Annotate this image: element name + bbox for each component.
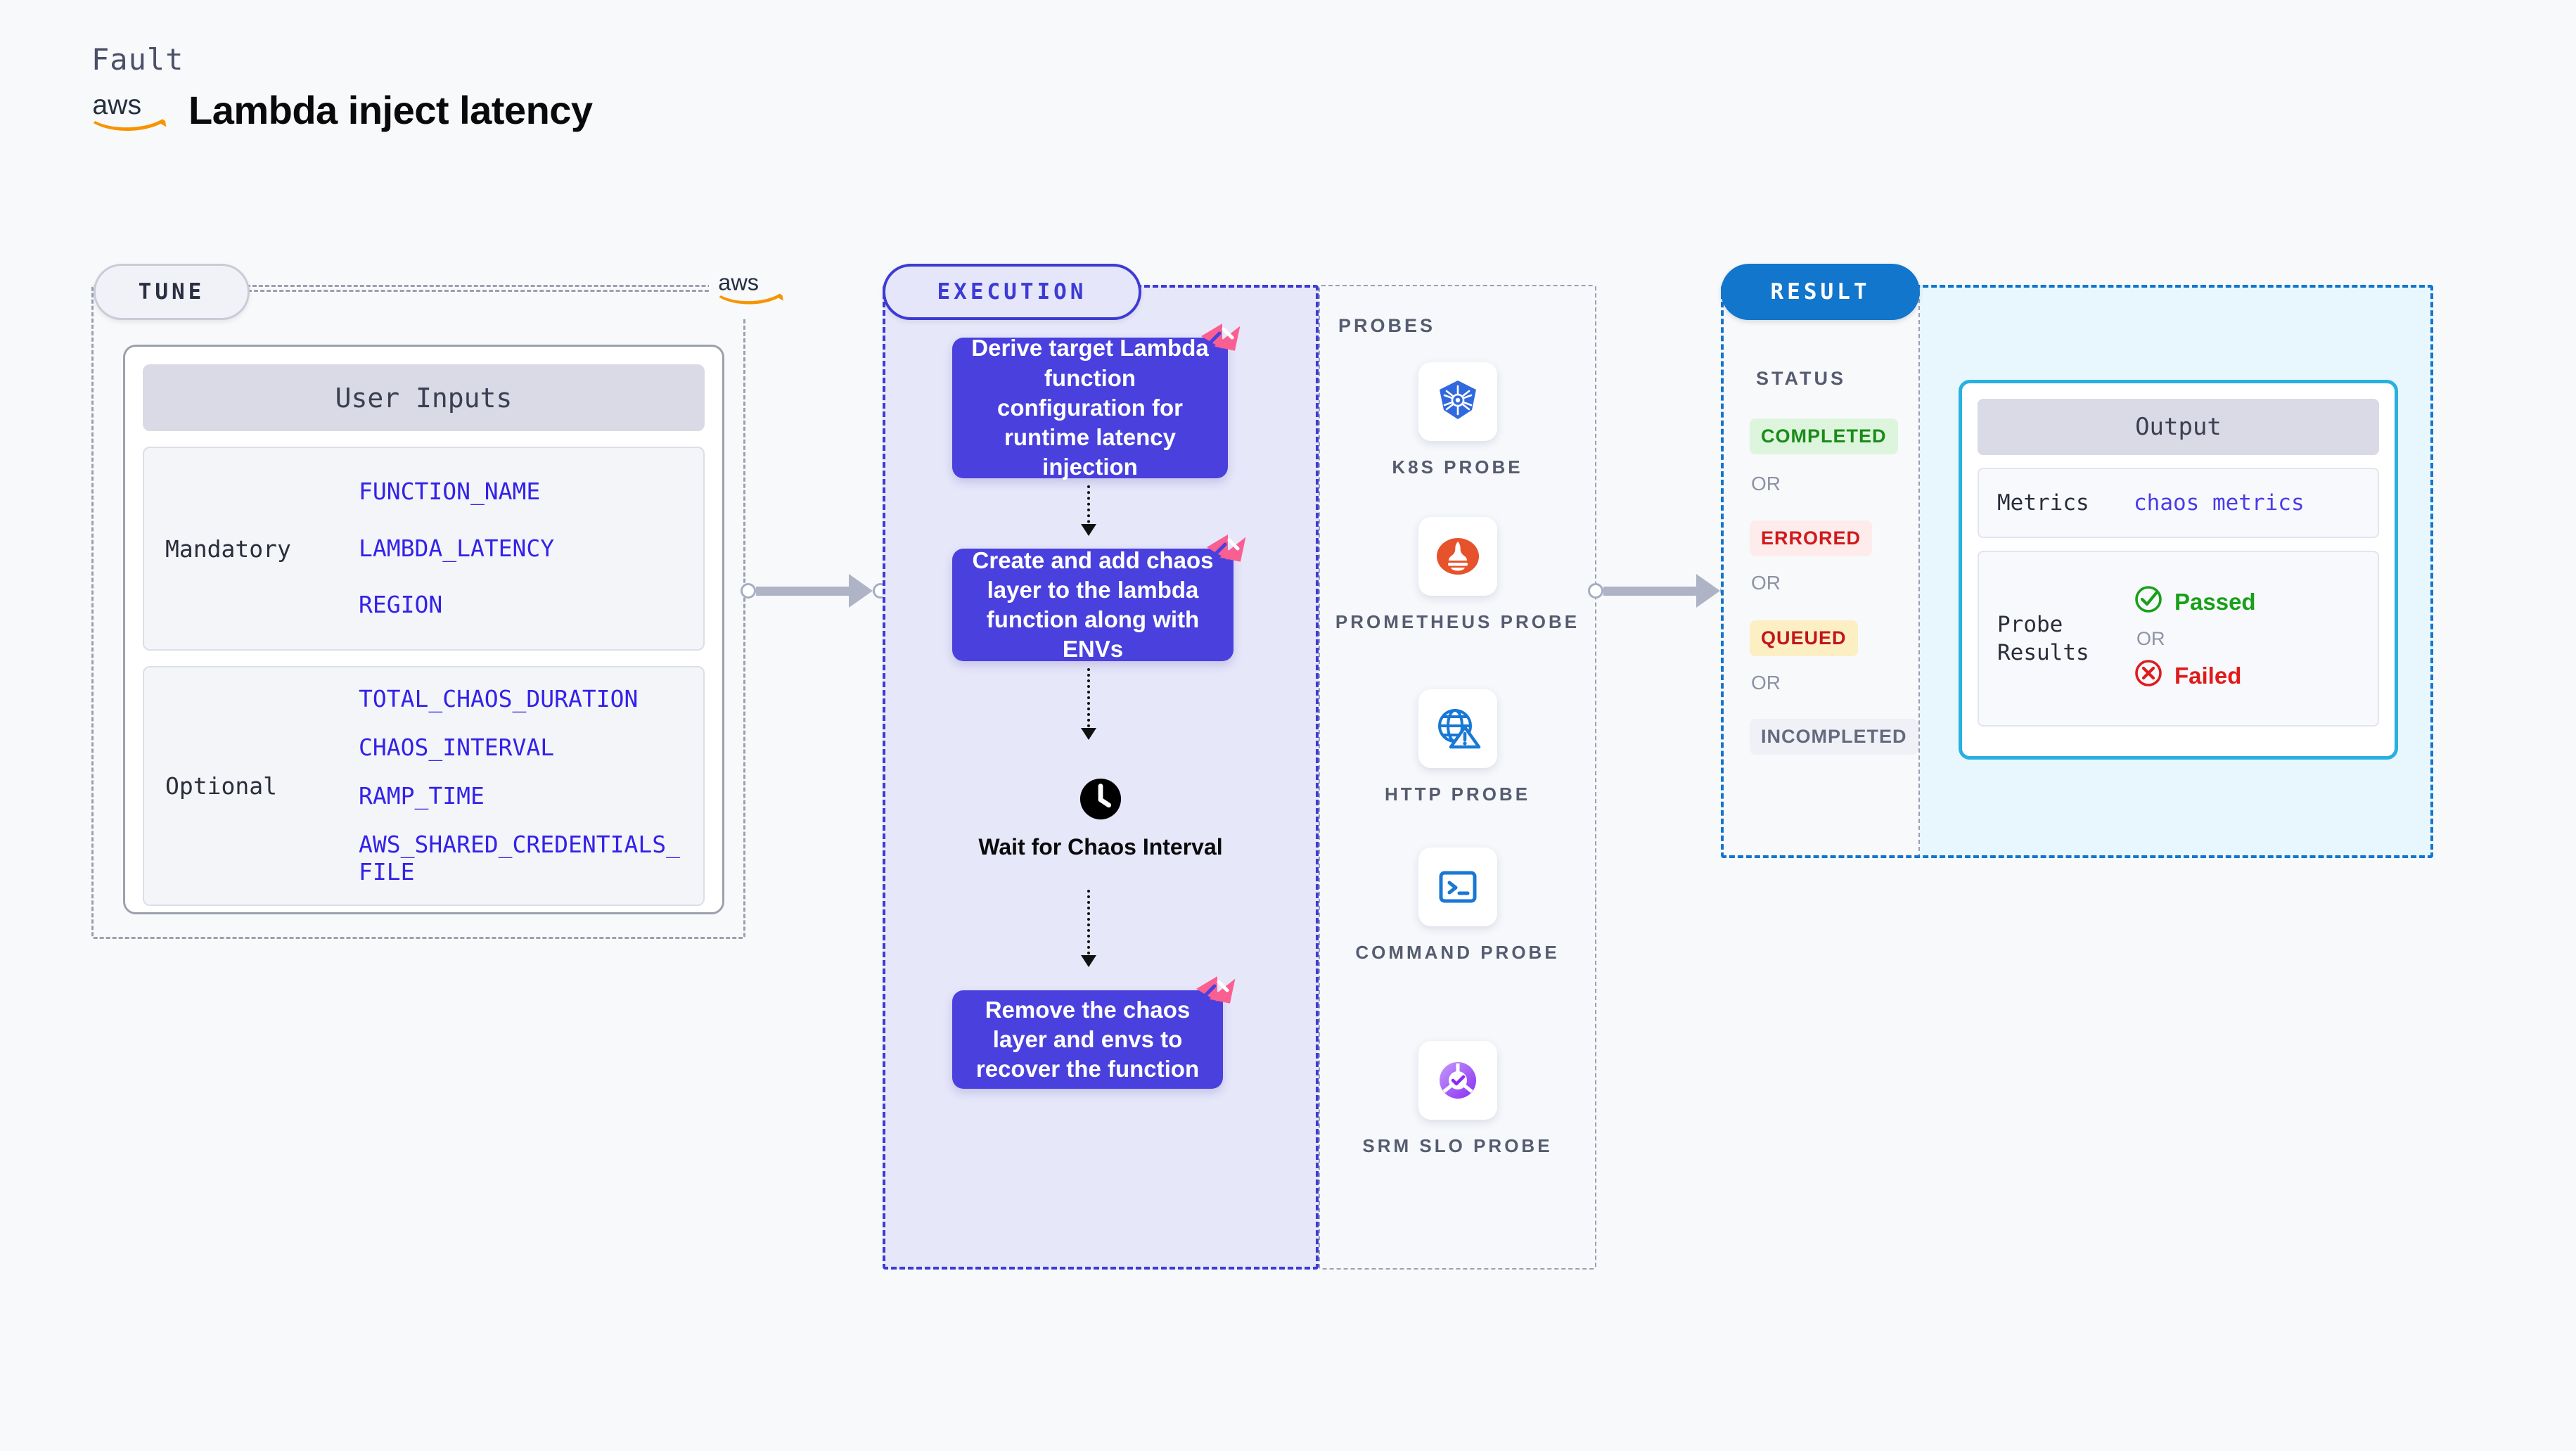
probe-item-prometheus[interactable]: PROMETHEUS PROBE — [1319, 517, 1596, 634]
output-value-metrics: chaos metrics — [2134, 490, 2305, 516]
execution-step-2[interactable]: Create and add chaos layer to the lambda… — [952, 549, 1233, 661]
execution-pill[interactable]: EXECUTION — [883, 264, 1141, 320]
execution-step-3[interactable]: Remove the chaos layer and envs to recov… — [952, 990, 1223, 1089]
probe-result-failed: Failed — [2134, 658, 2256, 693]
status-badge-incompleted: INCOMPLETED — [1750, 719, 1918, 755]
diagram-canvas: Fault aws Lambda inject latency TUNE aws… — [0, 0, 2576, 1451]
execution-step-1[interactable]: Derive target Lambda function configurat… — [952, 338, 1228, 478]
result-pill[interactable]: RESULT — [1721, 264, 1920, 320]
probe-label: PROMETHEUS PROBE — [1319, 610, 1596, 634]
aws-logo-icon: aws — [91, 87, 170, 133]
execution-step-3-text: Remove the chaos layer and envs to recov… — [970, 995, 1205, 1085]
output-row-metrics: Metrics chaos metrics — [1978, 468, 2379, 538]
probe-label: SRM SLO PROBE — [1319, 1134, 1596, 1158]
output-card: Output Metrics chaos metrics Probe Resul… — [1959, 380, 2398, 760]
srm-slo-icon — [1418, 1041, 1497, 1120]
status-badge-queued: QUEUED — [1750, 620, 1858, 656]
fault-kicker: Fault — [91, 42, 593, 77]
mandatory-inputs-group: Mandatory FUNCTION_NAME LAMBDA_LATENCY R… — [143, 447, 705, 651]
output-key-probe-results: Probe Results — [1979, 611, 2134, 667]
kubernetes-icon — [1418, 362, 1497, 441]
wait-for-chaos-interval-node: Wait for Chaos Interval — [883, 777, 1319, 862]
output-row-probe-results: Probe Results Passed OR — [1978, 551, 2379, 727]
env-var: RAMP_TIME — [359, 783, 680, 810]
or-separator: OR — [1751, 473, 1781, 495]
connector-start-dot — [741, 583, 756, 599]
connector-arrowhead — [849, 574, 873, 608]
arrow-step1-to-step2 — [1087, 485, 1090, 535]
litmus-logo-icon — [1193, 973, 1236, 1013]
status-badge-completed: COMPLETED — [1750, 418, 1898, 454]
probes-title: PROBES — [1338, 315, 1435, 337]
probe-item-k8s[interactable]: K8S PROBE — [1319, 362, 1596, 480]
arrow-wait-to-step3 — [1087, 890, 1090, 966]
output-key-metrics: Metrics — [1979, 489, 2134, 517]
execution-step-2-text: Create and add chaos layer to the lambda… — [970, 546, 1215, 665]
probe-item-http[interactable]: HTTP PROBE — [1319, 689, 1596, 807]
connector-arrowhead — [1696, 574, 1720, 608]
svg-text:aws: aws — [92, 90, 141, 120]
terminal-icon — [1418, 848, 1497, 926]
connector-execution-to-result — [1588, 577, 1736, 605]
connector-bar — [1603, 587, 1698, 596]
env-var: TOTAL_CHAOS_DURATION — [359, 686, 680, 713]
probe-label: K8S PROBE — [1319, 455, 1596, 480]
output-title: Output — [1978, 399, 2379, 455]
page-title: Lambda inject latency — [188, 87, 593, 133]
user-inputs-title: User Inputs — [143, 364, 705, 431]
tune-pill[interactable]: TUNE — [94, 264, 250, 320]
page-header: Fault aws Lambda inject latency — [91, 42, 593, 133]
status-badge-errored: ERRORED — [1750, 520, 1872, 556]
prometheus-icon — [1418, 517, 1497, 596]
connector-bar — [756, 587, 850, 596]
litmus-logo-icon — [1198, 321, 1241, 360]
or-separator: OR — [1751, 672, 1781, 694]
env-var: AWS_SHARED_CREDENTIALS_ FILE — [359, 831, 680, 886]
clock-icon — [1079, 777, 1122, 821]
or-separator: OR — [2134, 628, 2256, 650]
status-title: STATUS — [1756, 368, 1846, 390]
check-circle-icon — [2134, 584, 2163, 620]
arrow-step2-to-wait — [1087, 668, 1090, 739]
probe-item-command[interactable]: COMMAND PROBE — [1319, 848, 1596, 965]
env-var: REGION — [359, 592, 554, 619]
env-var: LAMBDA_LATENCY — [359, 535, 554, 563]
env-var: FUNCTION_NAME — [359, 478, 554, 506]
user-inputs-card: User Inputs Mandatory FUNCTION_NAME LAMB… — [123, 345, 724, 914]
probe-label: HTTP PROBE — [1319, 782, 1596, 807]
tune-top-dashed-line — [248, 290, 715, 292]
connector-tune-to-execution — [741, 577, 888, 605]
aws-provider-icon: aws — [709, 259, 796, 318]
svg-text:aws: aws — [718, 270, 759, 295]
optional-inputs-group: Optional TOTAL_CHAOS_DURATION CHAOS_INTE… — [143, 666, 705, 906]
wait-label: Wait for Chaos Interval — [883, 833, 1319, 862]
probe-result-passed: Passed — [2134, 584, 2256, 620]
mandatory-label: Mandatory — [144, 535, 359, 563]
probe-item-srm-slo[interactable]: SRM SLO PROBE — [1319, 1041, 1596, 1158]
probe-label: COMMAND PROBE — [1319, 940, 1596, 965]
connector-start-dot — [1588, 583, 1603, 599]
x-circle-icon — [2134, 658, 2163, 693]
optional-label: Optional — [144, 772, 359, 800]
env-var: CHAOS_INTERVAL — [359, 734, 680, 762]
probe-result-passed-label: Passed — [2174, 589, 2256, 615]
execution-step-1-text: Derive target Lambda function configurat… — [970, 333, 1210, 482]
probe-result-failed-label: Failed — [2174, 663, 2241, 689]
or-separator: OR — [1751, 572, 1781, 594]
http-globe-warning-icon — [1418, 689, 1497, 768]
litmus-logo-icon — [1204, 532, 1246, 571]
